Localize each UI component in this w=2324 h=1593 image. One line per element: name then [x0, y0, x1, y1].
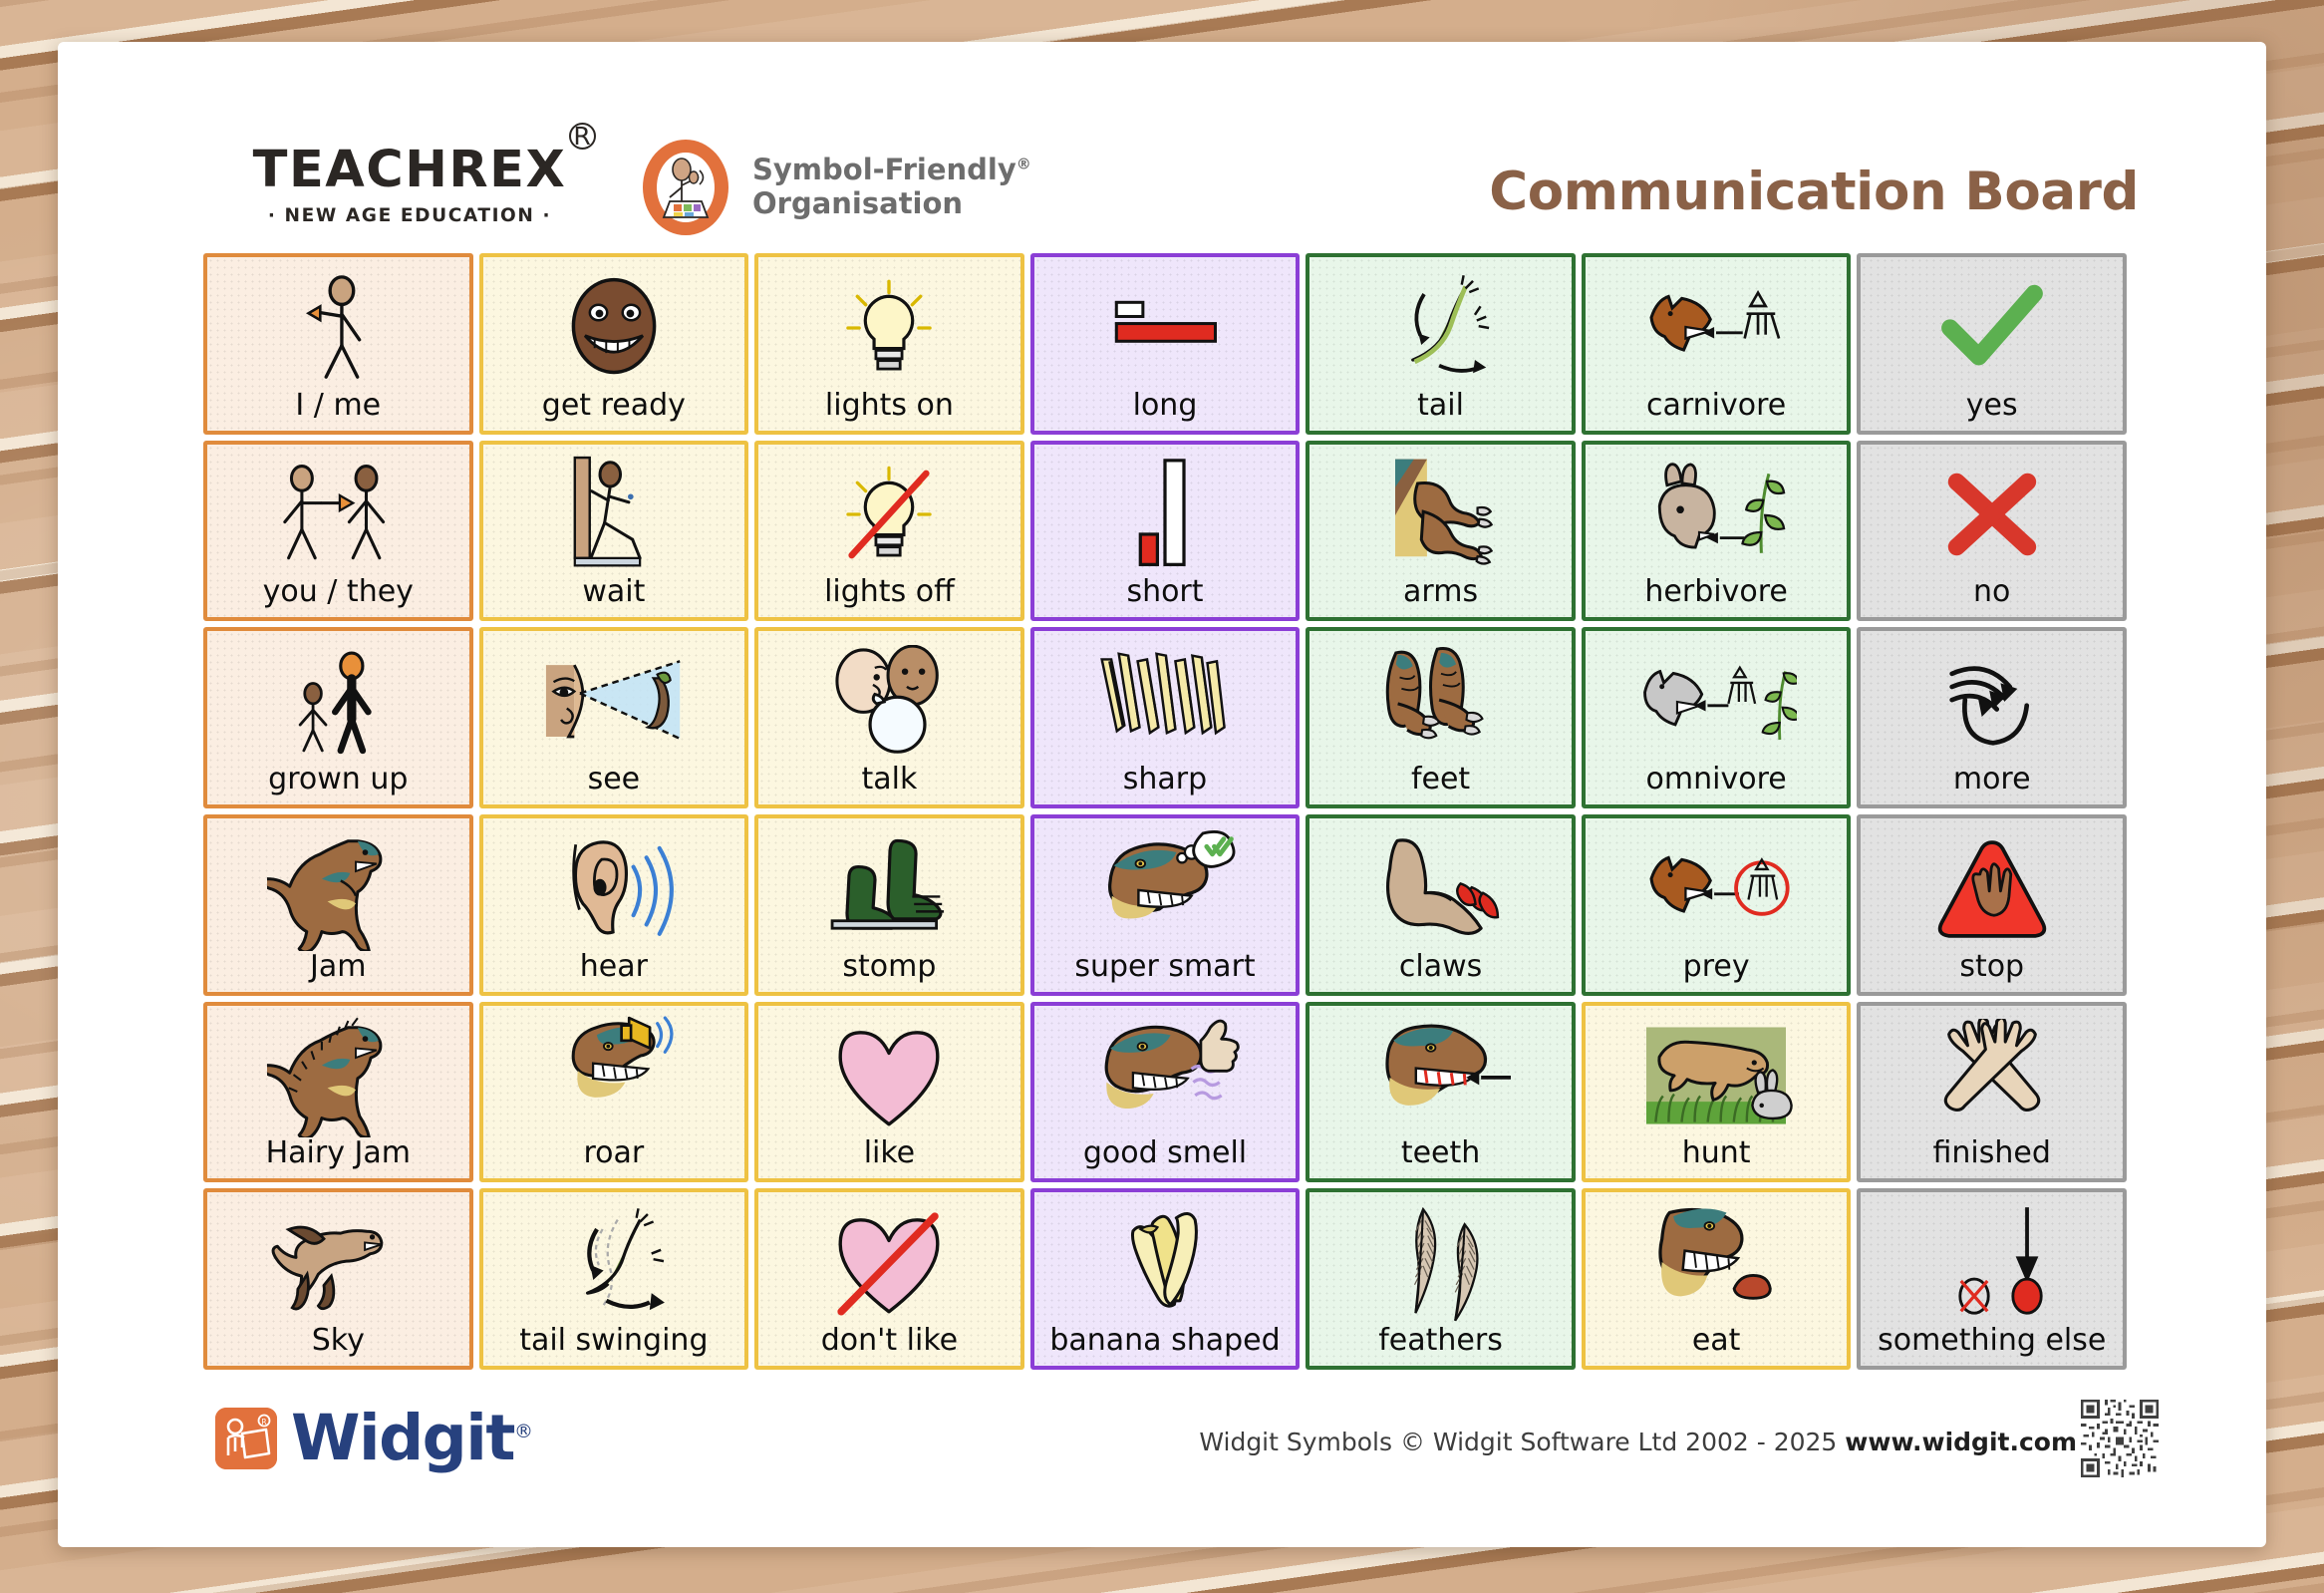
symbol-cell-label: tail swinging: [519, 1326, 708, 1360]
symbol-cell[interactable]: tail: [1306, 253, 1576, 435]
symbol-cell[interactable]: get ready: [479, 253, 749, 435]
symbol-cell-label: feathers: [1378, 1326, 1503, 1360]
dinosaur-teeth-icon: [1313, 1014, 1568, 1139]
symbol-cell-label: hear: [580, 952, 648, 986]
symbol-friendly-organisation-badge: Symbol-Friendly® Organisation: [636, 138, 1031, 237]
symbol-cell[interactable]: tail swinging: [479, 1188, 749, 1370]
symbol-cell[interactable]: grown up: [203, 627, 473, 808]
symbol-cell-label: yes: [1966, 391, 2018, 425]
symbol-cell[interactable]: you / they: [203, 441, 473, 622]
symbol-cell[interactable]: Hairy Jam: [203, 1002, 473, 1183]
symbol-cell[interactable]: finished: [1857, 1002, 2127, 1183]
widgit-wordmark: Widgit®: [291, 1407, 532, 1469]
dinosaur-feet-icon: [1313, 639, 1568, 765]
dinosaur-roaring-icon: [487, 1014, 741, 1139]
symbol-cell-label: super smart: [1074, 952, 1255, 986]
symbol-cell-label: grown up: [268, 765, 408, 798]
symbol-cell[interactable]: good smell: [1030, 1002, 1301, 1183]
symbol-cell-label: no: [1973, 577, 2010, 611]
symbol-cell[interactable]: hear: [479, 814, 749, 996]
symbol-cell[interactable]: stop: [1857, 814, 2127, 996]
symbol-cell-label: eat: [1692, 1326, 1741, 1360]
green-check-icon: [1865, 265, 2119, 391]
symbol-cell-label: lights on: [825, 391, 954, 425]
peeled-banana-icon: [1038, 1200, 1293, 1326]
symbol-cell-label: herbivore: [1644, 577, 1787, 611]
symbol-cell-label: finished: [1933, 1138, 2051, 1172]
symbol-cell[interactable]: short: [1030, 441, 1301, 622]
symbol-cell[interactable]: feathers: [1306, 1188, 1576, 1370]
long-bar-icon: [1038, 265, 1293, 391]
symbol-cell-label: more: [1953, 765, 2031, 798]
symbol-cell[interactable]: stomp: [754, 814, 1024, 996]
symbol-cell[interactable]: omnivore: [1582, 627, 1852, 808]
symbol-friendly-label: Symbol-Friendly® Organisation: [752, 154, 1031, 220]
symbol-cell[interactable]: long: [1030, 253, 1301, 435]
smiling-face-icon: [487, 265, 741, 391]
symbol-cell-label: roar: [583, 1138, 644, 1172]
symbol-cell-label: prey: [1683, 952, 1750, 986]
lizard-tail-icon: [1313, 265, 1568, 391]
pink-heart-icon: [762, 1014, 1017, 1139]
teachrex-logo: TEACHREX R · NEW AGE EDUCATION ·: [225, 145, 594, 226]
symbol-friendly-registered-icon: ®: [1017, 156, 1031, 173]
circular-arrows-icon: [1865, 639, 2119, 765]
symbol-cell[interactable]: hunt: [1582, 1002, 1852, 1183]
prey-circled-icon: [1590, 826, 1844, 952]
symbol-friendly-logo-icon: [636, 138, 735, 237]
raptor-dinosaur-icon: [211, 1200, 465, 1326]
board-header: TEACHREX R · NEW AGE EDUCATION ·: [58, 42, 2266, 246]
omnivore-icon: [1590, 639, 1844, 765]
symbol-cell-label: like: [864, 1138, 915, 1172]
person-pointing-other-icon: [211, 453, 465, 578]
registered-trademark-icon: R: [569, 123, 596, 150]
symbol-cell[interactable]: more: [1857, 627, 2127, 808]
lizard-tail-swinging-icon: [487, 1200, 741, 1326]
crossed-heart-icon: [762, 1200, 1017, 1326]
board-footer: R Widgit® Widgit Symbols © Widgit Softwa…: [58, 1373, 2266, 1547]
communication-board-card: TEACHREX R · NEW AGE EDUCATION ·: [58, 42, 2266, 1547]
ear-hearing-icon: [487, 826, 741, 952]
symbol-cell-label: claws: [1399, 952, 1482, 986]
wolf-eating-animal-icon: [1590, 265, 1844, 391]
symbol-cell-label: see: [588, 765, 641, 798]
symbol-cell[interactable]: prey: [1582, 814, 1852, 996]
symbol-cell-label: long: [1133, 391, 1198, 425]
symbol-cell[interactable]: super smart: [1030, 814, 1301, 996]
svg-text:R: R: [261, 1418, 266, 1427]
symbol-cell-label: stomp: [842, 952, 936, 986]
dinosaur-arms-icon: [1313, 453, 1568, 578]
lightbulb-on-icon: [762, 265, 1017, 391]
lightbulb-off-icon: [762, 453, 1017, 578]
symbol-cell[interactable]: like: [754, 1002, 1024, 1183]
symbol-cell-label: arms: [1403, 577, 1478, 611]
teachrex-tagline: · NEW AGE EDUCATION ·: [225, 205, 594, 226]
symbol-cell-label: get ready: [542, 391, 686, 425]
symbol-cell[interactable]: I / me: [203, 253, 473, 435]
symbol-cell[interactable]: sharp: [1030, 627, 1301, 808]
page-title: Communication Board: [1489, 161, 2139, 222]
symbol-cell[interactable]: see: [479, 627, 749, 808]
symbol-cell-label: carnivore: [1646, 391, 1786, 425]
symbol-cell-label: something else: [1878, 1326, 2106, 1360]
person-leaning-wall-icon: [487, 453, 741, 578]
person-pointing-self-icon: [211, 265, 465, 391]
widgit-logo: R Widgit®: [215, 1407, 532, 1469]
symbol-cell[interactable]: talk: [754, 627, 1024, 808]
symbol-cell[interactable]: lights on: [754, 253, 1024, 435]
symbol-cell-label: Sky: [312, 1326, 365, 1360]
symbol-cell[interactable]: banana shaped: [1030, 1188, 1301, 1370]
widgit-wordmark-text: Widgit: [291, 1402, 514, 1474]
symbol-cell-label: feet: [1411, 765, 1470, 798]
hairy-t-rex-icon: [211, 1014, 465, 1139]
symbol-cell[interactable]: claws: [1306, 814, 1576, 996]
dinosaur-eating-icon: [1590, 1200, 1844, 1326]
qr-code-icon: [2081, 1400, 2159, 1477]
short-bar-icon: [1038, 453, 1293, 578]
copyright-line: Widgit Symbols © Widgit Software Ltd 200…: [1199, 1428, 2077, 1456]
symbol-cell[interactable]: Sky: [203, 1188, 473, 1370]
widgit-mark-icon: R: [215, 1408, 277, 1469]
symbol-cell-label: I / me: [295, 391, 381, 425]
symbol-cell-label: short: [1126, 577, 1203, 611]
symbol-cell-label: Jam: [310, 952, 366, 986]
symbol-cell-label: Hairy Jam: [266, 1138, 411, 1172]
symbol-cell-label: wait: [582, 577, 645, 611]
symbol-cell[interactable]: feet: [1306, 627, 1576, 808]
symbol-cell-label: teeth: [1401, 1138, 1480, 1172]
symbol-grid: I / meget readylights onlongtailcarnivor…: [203, 253, 2127, 1370]
symbol-cell[interactable]: wait: [479, 441, 749, 622]
symbol-cell[interactable]: lights off: [754, 441, 1024, 622]
something-else-icon: [1865, 1200, 2119, 1326]
symbol-cell-label: stop: [1959, 952, 2024, 986]
symbol-cell-label: banana shaped: [1049, 1326, 1280, 1360]
symbol-cell[interactable]: teeth: [1306, 1002, 1576, 1183]
crossed-hands-icon: [1865, 1014, 2119, 1139]
rabbit-eating-plant-icon: [1590, 453, 1844, 578]
two-faces-speech-icon: [762, 639, 1017, 765]
symbol-cell[interactable]: don't like: [754, 1188, 1024, 1370]
symbol-cell[interactable]: Jam: [203, 814, 473, 996]
red-cross-icon: [1865, 453, 2119, 578]
symbol-cell[interactable]: carnivore: [1582, 253, 1852, 435]
symbol-cell[interactable]: something else: [1857, 1188, 2127, 1370]
symbol-cell-label: lights off: [824, 577, 955, 611]
lion-hunting-rabbit-icon: [1590, 1014, 1844, 1139]
symbol-cell[interactable]: no: [1857, 441, 2127, 622]
adult-and-child-icon: [211, 639, 465, 765]
widgit-registered-icon: ®: [514, 1421, 532, 1442]
symbol-cell[interactable]: roar: [479, 1002, 749, 1183]
eye-looking-icon: [487, 639, 741, 765]
symbol-cell-label: sharp: [1123, 765, 1207, 798]
symbol-cell-label: hunt: [1682, 1138, 1751, 1172]
symbol-friendly-line1: Symbol-Friendly: [752, 153, 1017, 186]
symbol-cell[interactable]: yes: [1857, 253, 2127, 435]
dinosaur-thinking-icon: [1038, 826, 1293, 952]
symbol-cell[interactable]: arms: [1306, 441, 1576, 622]
stop-hand-sign-icon: [1865, 826, 2119, 952]
boots-stomping-icon: [762, 826, 1017, 952]
dinosaur-smelling-thumbsup-icon: [1038, 1014, 1293, 1139]
symbol-cell-label: talk: [861, 765, 917, 798]
symbol-cell-label: you / they: [263, 577, 414, 611]
sharp-spikes-icon: [1038, 639, 1293, 765]
widgit-url: www.widgit.com: [1845, 1428, 2077, 1456]
teachrex-wordmark: TEACHREX R: [253, 145, 567, 195]
teachrex-wordmark-text: TEACHREX: [253, 141, 567, 199]
copyright-text: Widgit Symbols © Widgit Software Ltd 200…: [1199, 1428, 1837, 1456]
symbol-friendly-line2: Organisation: [752, 186, 963, 220]
symbol-cell[interactable]: herbivore: [1582, 441, 1852, 622]
t-rex-standing-icon: [211, 826, 465, 952]
feathers-icon: [1313, 1200, 1568, 1326]
symbol-cell-label: tail: [1417, 391, 1464, 425]
symbol-cell-label: omnivore: [1646, 765, 1787, 798]
symbol-cell[interactable]: eat: [1582, 1188, 1852, 1370]
claws-icon: [1313, 826, 1568, 952]
symbol-cell-label: don't like: [821, 1326, 958, 1360]
symbol-cell-label: good smell: [1083, 1138, 1247, 1172]
